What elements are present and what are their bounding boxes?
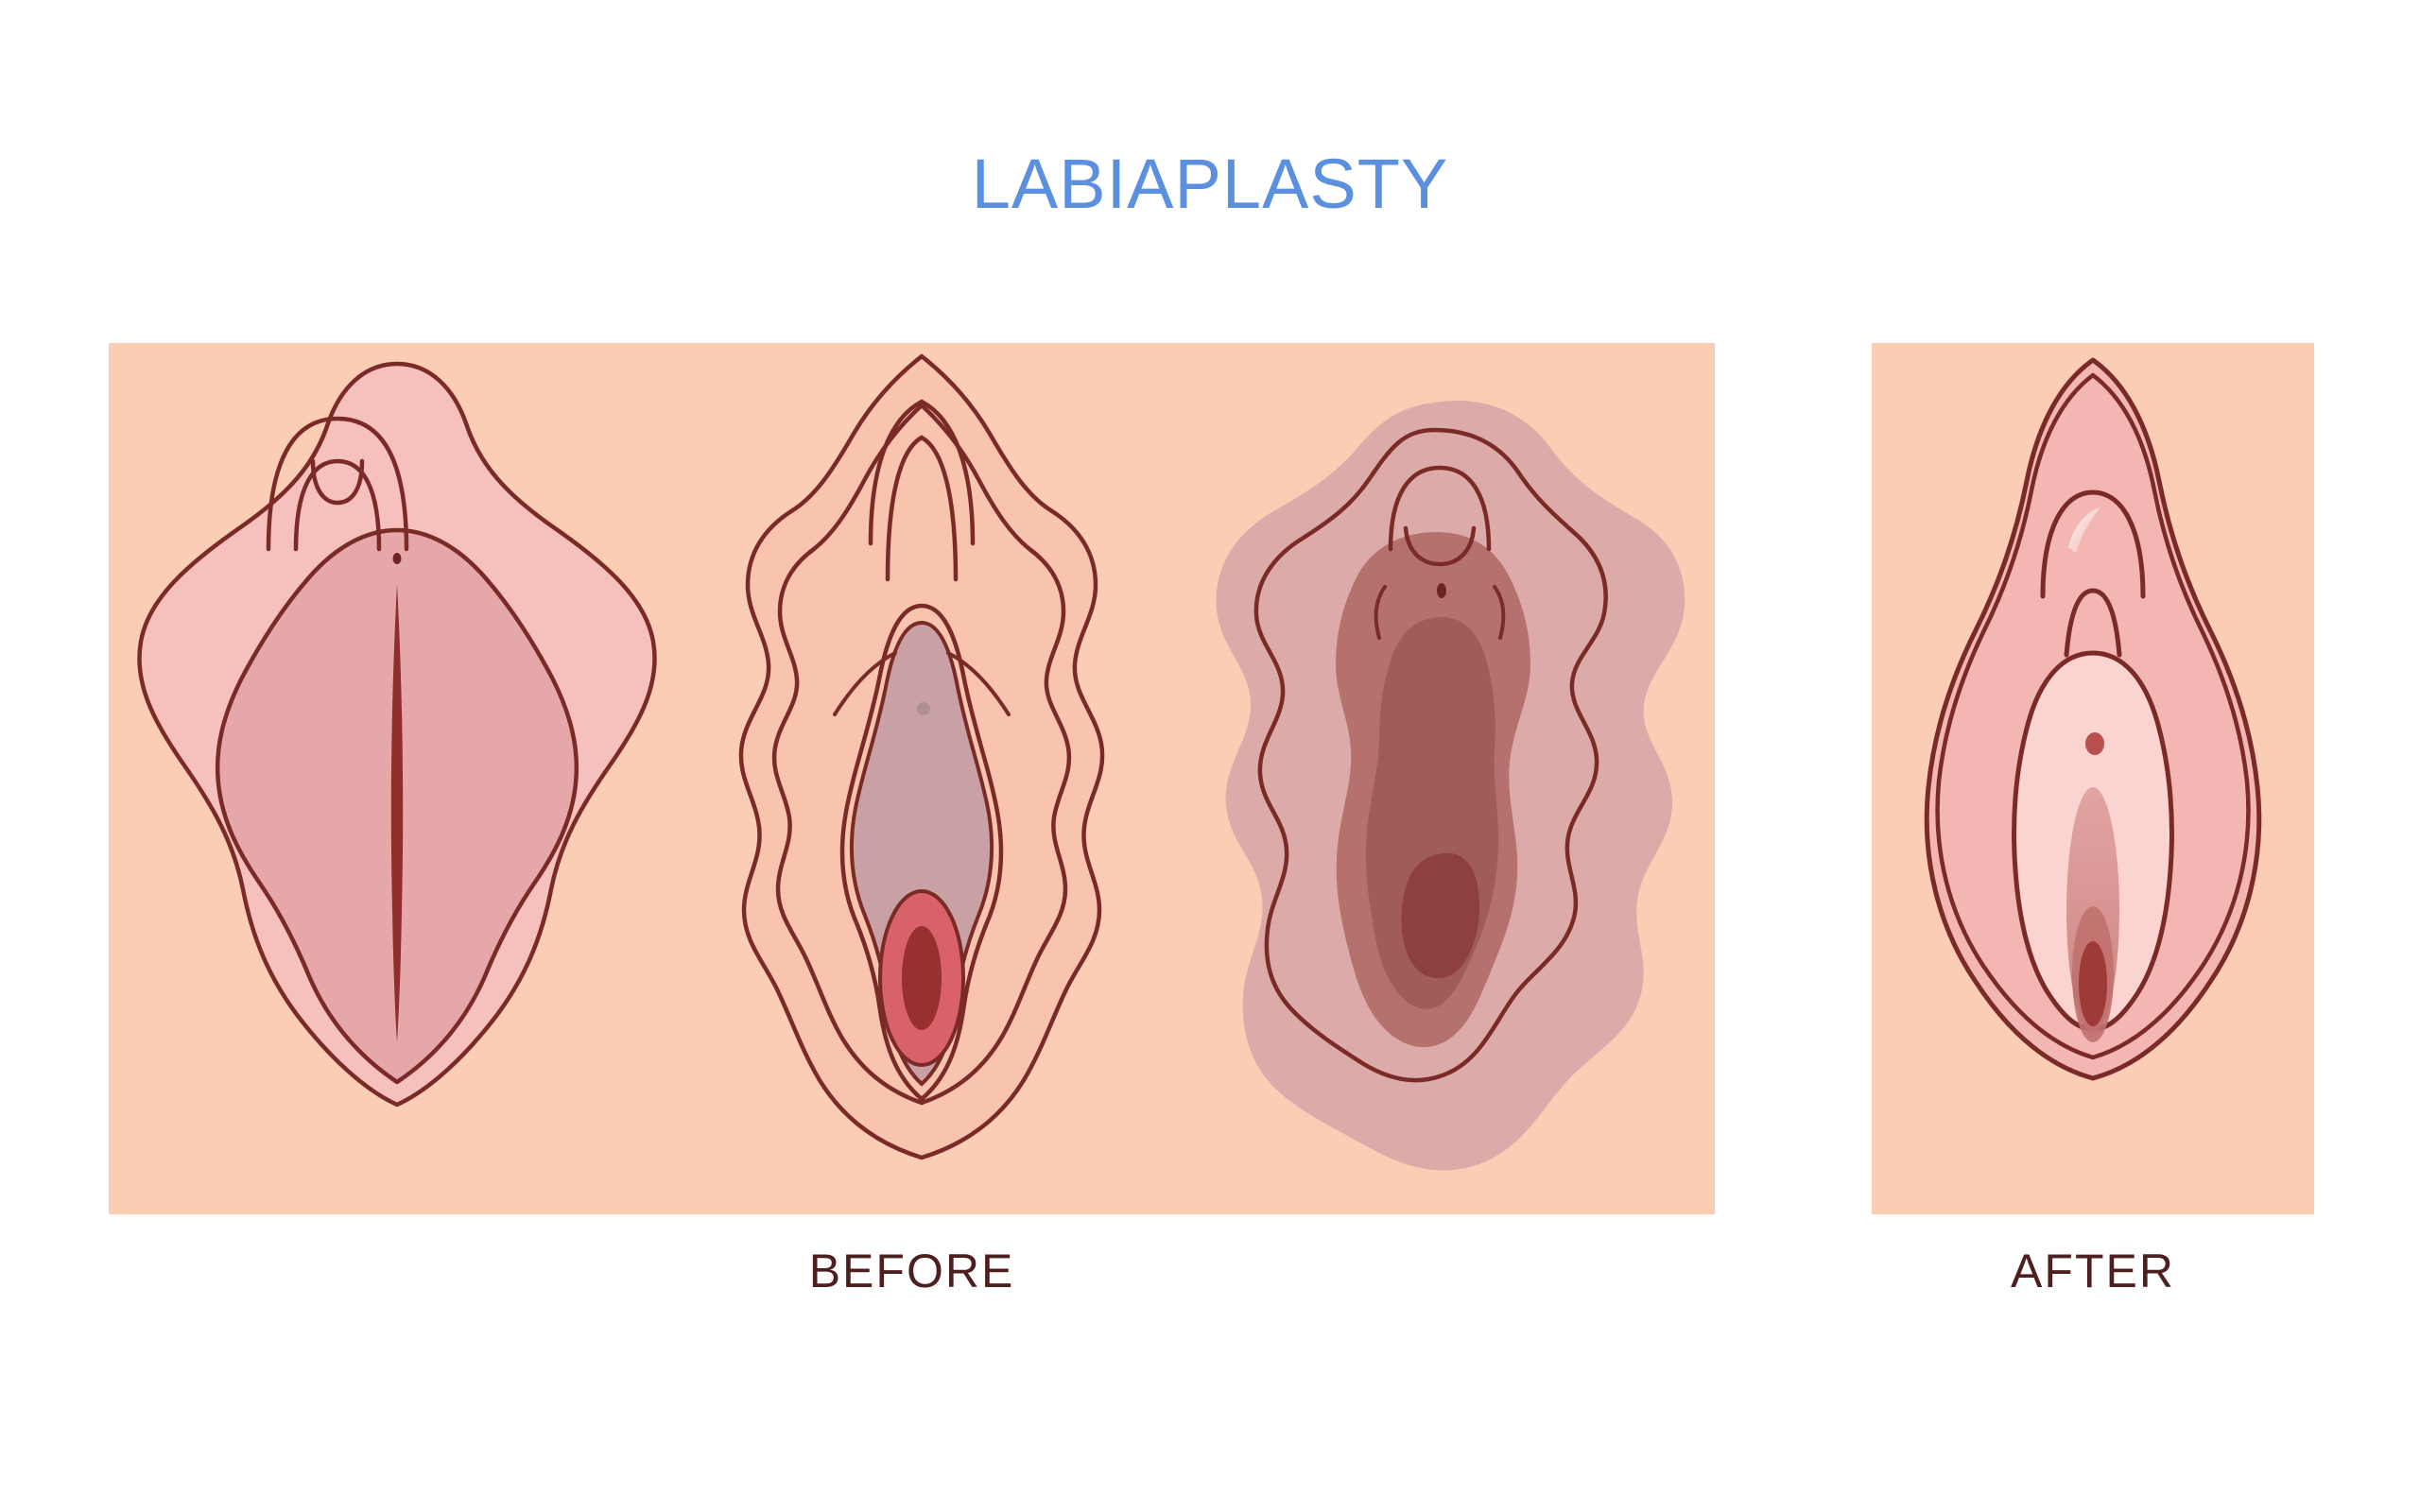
figure-irritated-swollen-labia <box>1167 343 1697 1214</box>
figure-enlarged-labia <box>128 343 666 1214</box>
figure-protruding-labia-minora <box>695 343 1149 1214</box>
caption-after: AFTER <box>1872 1247 2314 1295</box>
infographic-canvas: LABIAPLASTY <box>0 0 2420 1512</box>
vaginal-opening-inner <box>2079 941 2107 1026</box>
urethral-opening-dot <box>393 553 402 564</box>
caption-before: BEFORE <box>109 1247 1715 1295</box>
page-title: LABIAPLASTY <box>0 149 2420 219</box>
panel-before <box>109 343 1715 1214</box>
vaginal-opening-inner <box>902 926 942 1030</box>
panel-after <box>1872 343 2314 1214</box>
figure-corrected-labia-result <box>1872 343 2314 1214</box>
urethral-opening-dot <box>917 702 930 715</box>
urethral-opening-dot <box>2085 732 2104 755</box>
urethral-opening-dot <box>1437 583 1446 598</box>
